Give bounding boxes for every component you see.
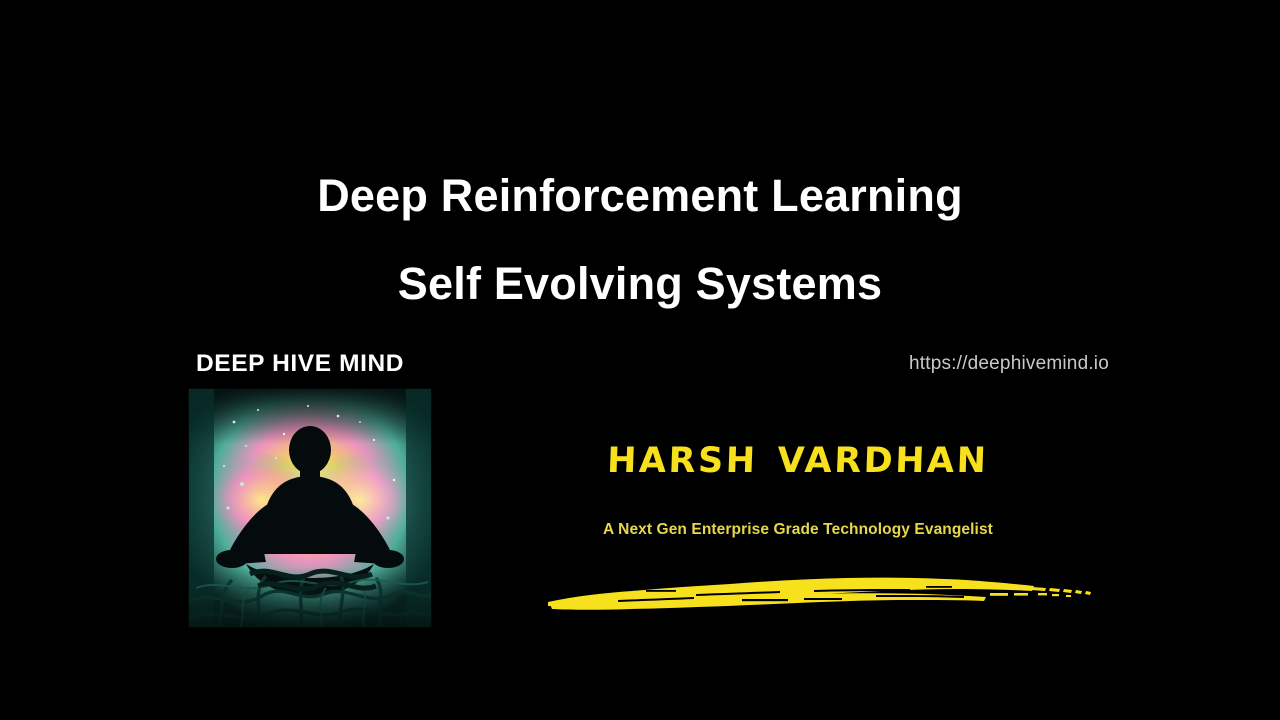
speaker-tagline: A Next Gen Enterprise Grade Technology E…: [548, 521, 1048, 539]
meditating-figure-icon: [188, 388, 432, 628]
brush-stroke-underline: [546, 566, 1094, 612]
title-line-2: Self Evolving Systems: [0, 240, 1280, 328]
slide-title: Deep Reinforcement Learning Self Evolvin…: [0, 152, 1280, 328]
title-line-1: Deep Reinforcement Learning: [0, 152, 1280, 240]
website-url[interactable]: https://deephivemind.io: [909, 353, 1109, 375]
brand-wordmark: DEEP HIVE MIND: [196, 350, 404, 378]
meditation-artwork: [188, 388, 432, 628]
brush-stroke-icon: [546, 566, 1094, 612]
speaker-name: Harsh Vardhan: [547, 424, 1049, 486]
presentation-slide: Deep Reinforcement Learning Self Evolvin…: [0, 0, 1280, 720]
